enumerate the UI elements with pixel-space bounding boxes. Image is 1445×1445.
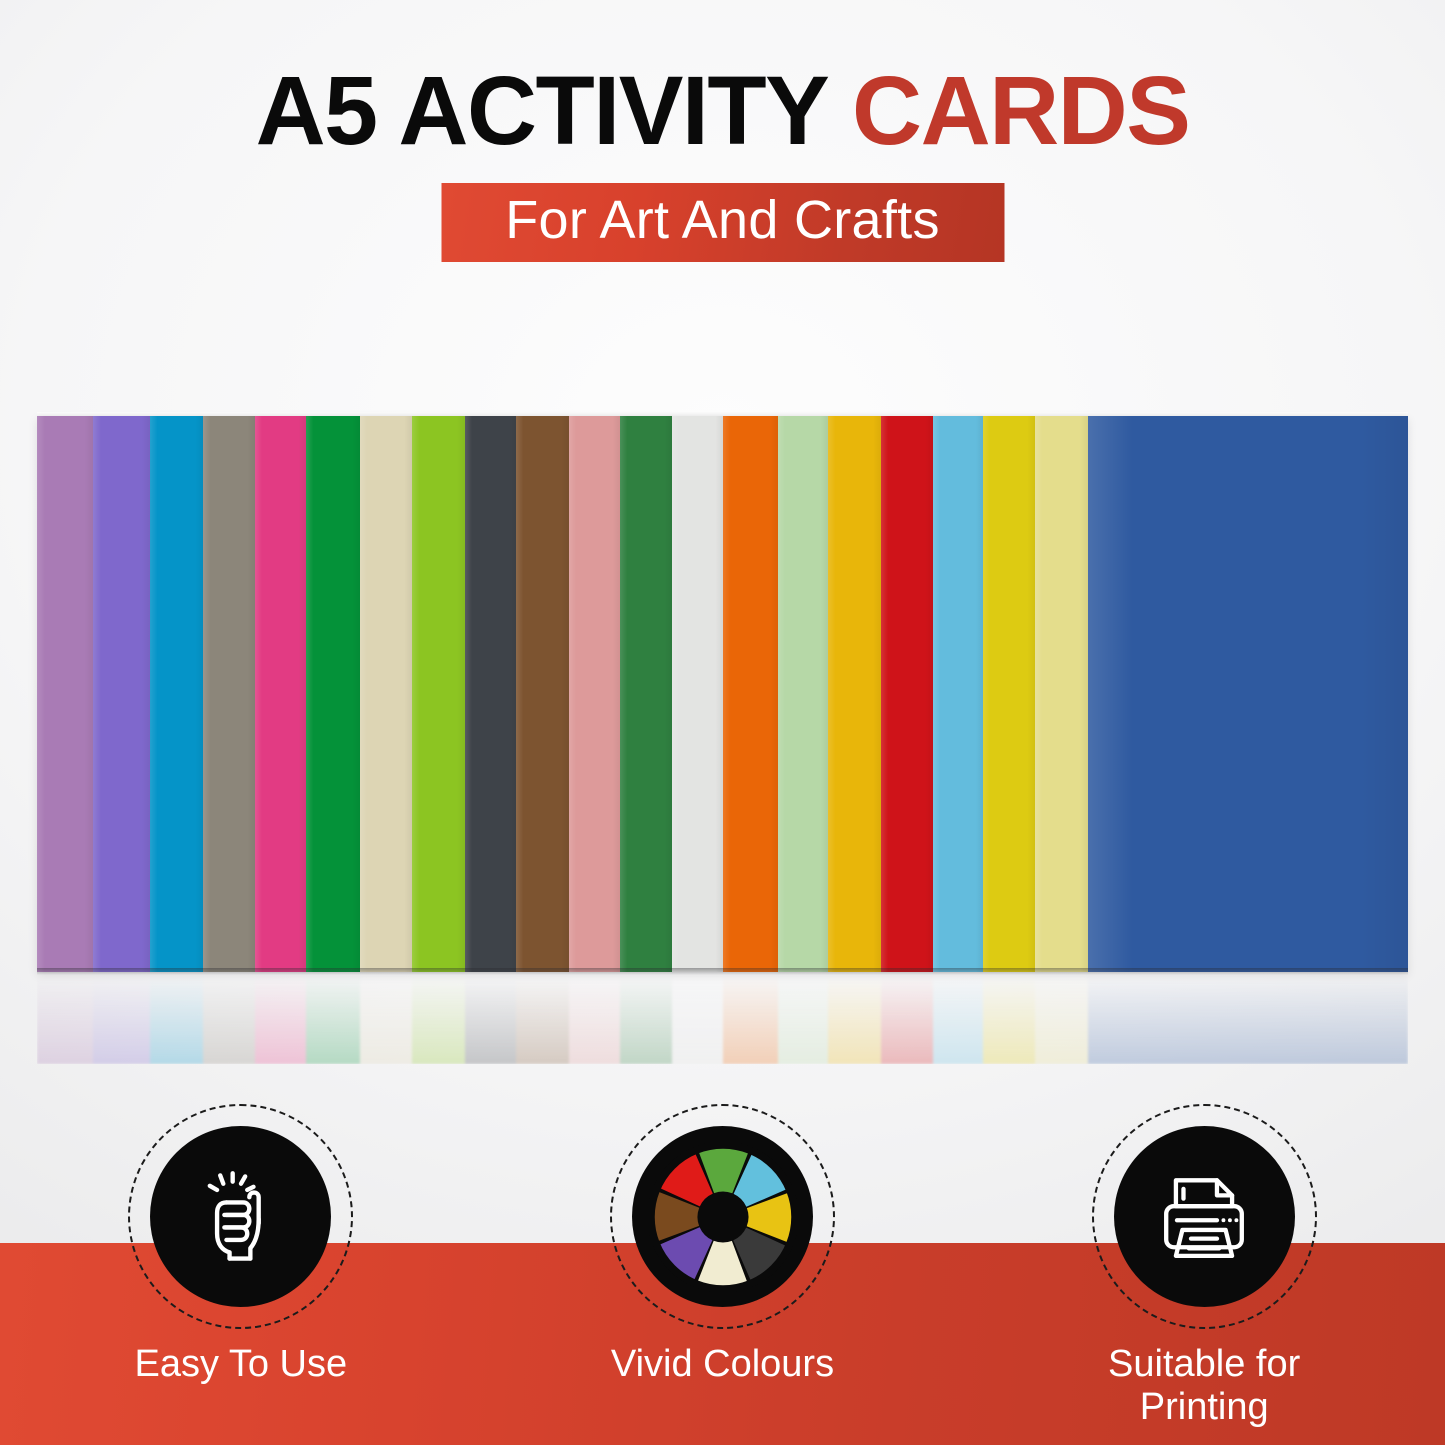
title-primary: A5 ACTIVITY	[256, 56, 852, 165]
reflection-stripe-yellow	[983, 972, 1034, 1064]
badge-vivid-colours	[610, 1104, 835, 1329]
card-stripe-red	[881, 416, 932, 972]
card-stripe-warm-grey	[203, 416, 255, 972]
colour-wheel-icon	[648, 1142, 798, 1292]
card-stripe-orange	[723, 416, 778, 972]
reflection-stripe-charcoal	[465, 972, 516, 1064]
reflection-stripe-warm-grey	[203, 972, 255, 1064]
card-stripe-magenta-pink	[255, 416, 306, 972]
product-photo	[37, 416, 1408, 972]
snapping-hand-icon	[189, 1165, 293, 1269]
feature-label: Easy To Use	[135, 1343, 348, 1386]
card-stripe-royal-blue	[1088, 416, 1408, 972]
reflection-stripe-pale-yellow	[1035, 972, 1088, 1064]
subtitle-wrap: For Art And Crafts	[441, 183, 1004, 262]
reflection-stripe-forest-green	[620, 972, 672, 1064]
reflection-stripe-violet	[93, 972, 150, 1064]
subtitle-text: For Art And Crafts	[467, 192, 978, 249]
card-stripe-lilac	[37, 416, 93, 972]
subtitle-banner: For Art And Crafts	[441, 183, 1004, 262]
badge-suitable-for-printing	[1092, 1104, 1317, 1329]
reflection-stripe-magenta-pink	[255, 972, 306, 1064]
icon-disc	[150, 1126, 331, 1307]
card-stripe-sand-beige	[360, 416, 411, 972]
card-stripe-brown	[516, 416, 568, 972]
card-stripe-sky-blue	[933, 416, 984, 972]
reflection-stripe-sky-blue	[933, 972, 984, 1064]
reflection-stripe-golden-yellow	[828, 972, 881, 1064]
reflection-stripe-white	[672, 972, 723, 1064]
reflection-stripe-green	[306, 972, 360, 1064]
feature-list: Easy To Use Vivid Colours	[0, 1104, 1445, 1445]
card-stripe-lime-green	[412, 416, 465, 972]
product-poster: A5 ACTIVITY CARDS For Art And Crafts	[0, 0, 1445, 1445]
reflection-stripe-sand-beige	[360, 972, 411, 1064]
feature-label: Suitable for Printing	[1054, 1343, 1354, 1429]
title-accent: CARDS	[852, 56, 1189, 165]
title-block: A5 ACTIVITY CARDS	[0, 62, 1445, 159]
card-stripe-forest-green	[620, 416, 672, 972]
feature-label: Vivid Colours	[611, 1343, 834, 1386]
icon-disc	[632, 1126, 813, 1307]
reflection-stripe-dusty-pink	[569, 972, 620, 1064]
card-stripe-golden-yellow	[828, 416, 881, 972]
card-stripe-yellow	[983, 416, 1034, 972]
feature-vivid-colours: Vivid Colours	[482, 1104, 964, 1445]
card-stripe-violet	[93, 416, 150, 972]
card-stripe-pale-green	[778, 416, 829, 972]
card-stripe-charcoal	[465, 416, 516, 972]
reflection-stripe-pale-green	[778, 972, 829, 1064]
page-title: A5 ACTIVITY CARDS	[0, 62, 1445, 159]
reflection-stripe-lilac	[37, 972, 93, 1064]
feature-easy-to-use: Easy To Use	[0, 1104, 482, 1445]
card-stripe-cyan-blue	[150, 416, 203, 972]
card-stripe-dusty-pink	[569, 416, 620, 972]
card-stripe-green	[306, 416, 360, 972]
printer-icon	[1150, 1163, 1258, 1271]
card-stripe-pale-yellow	[1035, 416, 1088, 972]
reflection-stripe-cyan-blue	[150, 972, 203, 1064]
reflection-stripe-brown	[516, 972, 568, 1064]
feature-suitable-for-printing: Suitable for Printing	[963, 1104, 1445, 1445]
card-stripe-white	[672, 416, 723, 972]
reflection-stripe-orange	[723, 972, 778, 1064]
photo-reflection	[37, 972, 1408, 1064]
reflection-stripe-lime-green	[412, 972, 465, 1064]
reflection-stripe-royal-blue	[1088, 972, 1408, 1064]
icon-disc	[1114, 1126, 1295, 1307]
reflection-stripe-red	[881, 972, 932, 1064]
badge-easy-to-use	[128, 1104, 353, 1329]
